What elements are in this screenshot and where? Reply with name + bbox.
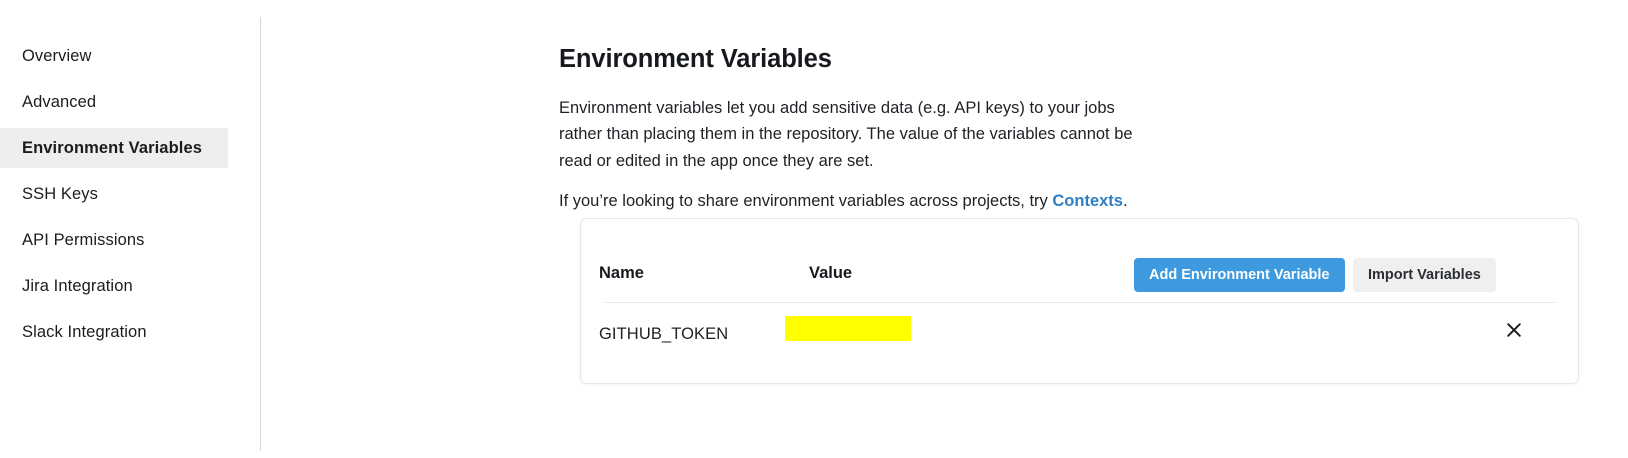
column-header-name: Name (599, 264, 644, 283)
table-row: GITHUB_TOKEN (581, 303, 1578, 383)
sidebar-item-advanced[interactable]: Advanced (0, 82, 228, 122)
sidebar-item-label: Environment Variables (22, 128, 202, 168)
variable-value-redaction (785, 316, 911, 341)
share-line-suffix: . (1123, 192, 1128, 210)
sidebar-item-label: API Permissions (22, 220, 145, 260)
page-title: Environment Variables (559, 45, 832, 74)
environment-variables-card: Name Value Add Environment Variable Impo… (580, 218, 1579, 384)
sidebar-item-overview[interactable]: Overview (0, 36, 228, 76)
card-header: Name Value Add Environment Variable Impo… (581, 219, 1578, 303)
sidebar-item-api-permissions[interactable]: API Permissions (0, 220, 228, 260)
sidebar-item-label: Jira Integration (22, 266, 133, 306)
sidebar: Overview Advanced Environment Variables … (0, 0, 260, 458)
main-content: Environment Variables Environment variab… (559, 0, 1628, 458)
column-header-value: Value (809, 264, 852, 283)
sidebar-item-label: SSH Keys (22, 174, 98, 214)
settings-page: Overview Advanced Environment Variables … (0, 0, 1628, 458)
sidebar-divider (260, 17, 261, 451)
sidebar-item-jira-integration[interactable]: Jira Integration (0, 266, 228, 306)
sidebar-item-environment-variables[interactable]: Environment Variables (0, 128, 228, 168)
share-variables-line: If you’re looking to share environment v… (559, 188, 1259, 214)
share-line-prefix: If you’re looking to share environment v… (559, 192, 1052, 210)
close-icon[interactable] (1502, 318, 1526, 342)
add-environment-variable-button[interactable]: Add Environment Variable (1134, 258, 1345, 292)
contexts-link[interactable]: Contexts (1052, 192, 1123, 210)
sidebar-item-slack-integration[interactable]: Slack Integration (0, 312, 228, 352)
sidebar-item-label: Advanced (22, 82, 96, 122)
sidebar-item-label: Overview (22, 36, 92, 76)
intro-paragraph: Environment variables let you add sensit… (559, 95, 1161, 175)
sidebar-nav-list: Overview Advanced Environment Variables … (0, 36, 228, 358)
sidebar-item-label: Slack Integration (22, 312, 147, 352)
variable-name: GITHUB_TOKEN (599, 325, 728, 344)
import-variables-button[interactable]: Import Variables (1353, 258, 1496, 292)
sidebar-item-ssh-keys[interactable]: SSH Keys (0, 174, 228, 214)
